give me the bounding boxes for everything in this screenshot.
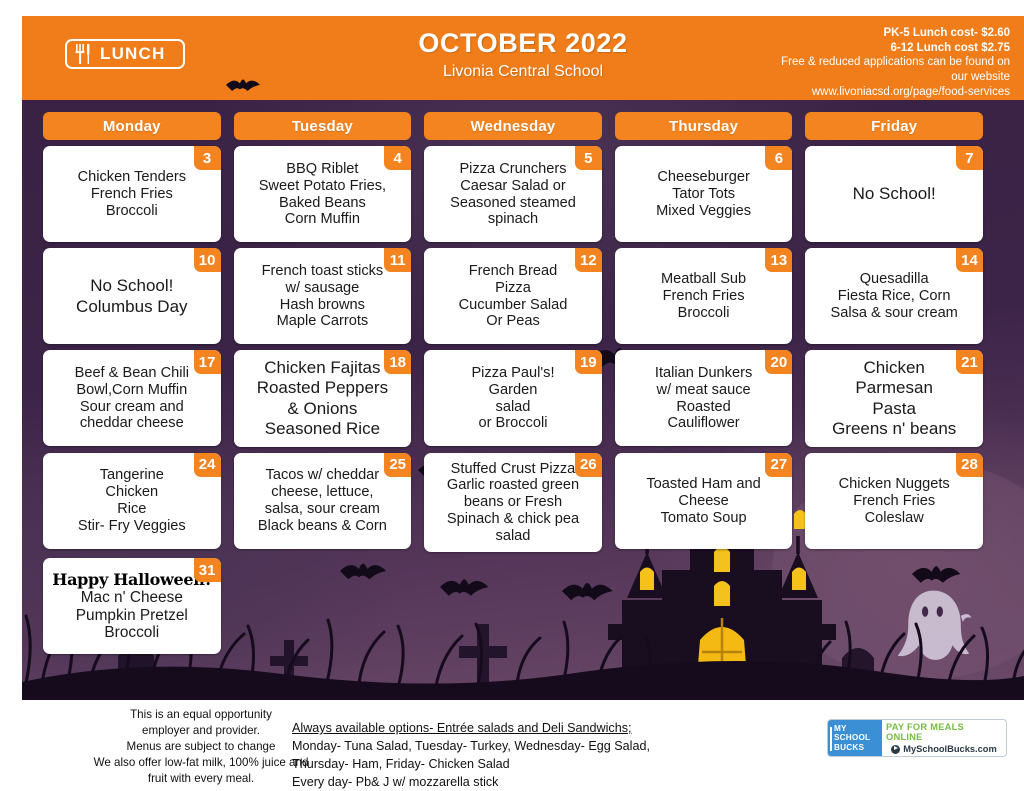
myschoolbucks-text: PAY FOR MEALS ONLINE MySchoolBucks.com (882, 720, 1006, 756)
price-6-12: 6-12 Lunch cost $2.75 (781, 41, 1010, 56)
calendar-day-cell[interactable]: Beef & Bean Chili Bowl,Corn Muffin Sour … (43, 350, 221, 446)
calendar-cell-empty (234, 558, 412, 573)
calendar-cell-wrapper: Stuffed Crust Pizza Garlic roasted green… (424, 453, 602, 553)
calendar-cell-empty (615, 558, 793, 573)
menu-text: No School! Columbus Day (49, 276, 215, 317)
calendar-cell-wrapper: French toast sticks w/ sausage Hash brow… (234, 248, 412, 344)
day-number-badge: 19 (575, 350, 602, 374)
calendar-day-cell[interactable]: Chicken Nuggets French Fries Coleslaw28 (805, 453, 983, 549)
day-header-friday: Friday (805, 112, 983, 140)
menu-text: Chicken Fajitas Roasted Peppers & Onions… (240, 358, 406, 440)
calendar-cell-wrapper: French Bread Pizza Cucumber Salad Or Pea… (424, 248, 602, 344)
calendar-day-cell[interactable]: Cheeseburger Tator Tots Mixed Veggies6 (615, 146, 793, 242)
calendar-day-cell[interactable]: No School! Columbus Day10 (43, 248, 221, 344)
menu-text: Quesadilla Fiesta Rice, Corn Salsa & sou… (811, 271, 977, 322)
menu-text: Chicken Tenders French Fries Broccoli (49, 169, 215, 220)
calendar-day-cell[interactable]: Happy Halloween!Mac n' Cheese Pumpkin Pr… (43, 558, 221, 654)
calendar-week-row: Tangerine Chicken Rice Stir- Fry Veggies… (43, 453, 983, 553)
pricing-info: PK-5 Lunch cost- $2.60 6-12 Lunch cost $… (781, 26, 1010, 100)
calendar-cell-wrapper (805, 558, 983, 654)
menu-text: Pizza Crunchers Caesar Salad or Seasoned… (430, 161, 596, 229)
calendar-week-row: Beef & Bean Chili Bowl,Corn Muffin Sour … (43, 350, 983, 447)
calendar-day-cell[interactable]: French toast sticks w/ sausage Hash brow… (234, 248, 412, 344)
play-icon (891, 745, 900, 754)
calendar-cell-wrapper (424, 558, 602, 654)
calendar-day-cell[interactable]: No School!7 (805, 146, 983, 242)
day-of-week-header-row: Monday Tuesday Wednesday Thursday Friday (43, 112, 983, 140)
calendar-weeks: Chicken Tenders French Fries Broccoli3BB… (43, 146, 983, 654)
msb-url-text: MySchoolBucks.com (903, 744, 997, 754)
calendar-cell-wrapper: Chicken Tenders French Fries Broccoli3 (43, 146, 221, 242)
calendar-cell-wrapper: Chicken Fajitas Roasted Peppers & Onions… (234, 350, 412, 447)
free-reduced-line-1: Free & reduced applications can be found… (781, 55, 1010, 70)
msb-url-label[interactable]: MySchoolBucks.com (891, 744, 997, 754)
day-number-badge: 28 (956, 453, 983, 477)
day-number-badge: 24 (194, 453, 221, 477)
always-available-line-1: Monday- Tuna Salad, Tuesday- Turkey, Wed… (292, 738, 762, 756)
website-link[interactable]: www.livoniacsd.org/page/food-services (781, 85, 1010, 100)
fork-icon (74, 43, 91, 65)
calendar-cell-wrapper: BBQ Riblet Sweet Potato Fries, Baked Bea… (234, 146, 412, 242)
calendar-cell-wrapper: Happy Halloween!Mac n' Cheese Pumpkin Pr… (43, 558, 221, 654)
calendar-day-cell[interactable]: Toasted Ham and Cheese Tomato Soup27 (615, 453, 793, 549)
always-available-line-2: Thursday- Ham, Friday- Chicken Salad (292, 756, 762, 774)
calendar-cell-wrapper: Cheeseburger Tator Tots Mixed Veggies6 (615, 146, 793, 242)
free-reduced-line-2: our website (781, 70, 1010, 85)
calendar-day-cell[interactable]: Chicken Fajitas Roasted Peppers & Onions… (234, 350, 412, 447)
day-number-badge: 27 (765, 453, 792, 477)
calendar-cell-wrapper: Tangerine Chicken Rice Stir- Fry Veggies… (43, 453, 221, 553)
menu-text: Cheeseburger Tator Tots Mixed Veggies (621, 169, 787, 220)
day-header-monday: Monday (43, 112, 221, 140)
calendar-day-cell[interactable]: BBQ Riblet Sweet Potato Fries, Baked Bea… (234, 146, 412, 242)
day-number-badge: 17 (194, 350, 221, 374)
menu-text: Italian Dunkers w/ meat sauce Roasted Ca… (621, 365, 787, 433)
day-number-badge: 26 (575, 453, 602, 477)
price-pk5: PK-5 Lunch cost- $2.60 (781, 26, 1010, 41)
calendar-cell-wrapper: Tacos w/ cheddar cheese, lettuce, salsa,… (234, 453, 412, 553)
menu-text: Chicken Nuggets French Fries Coleslaw (811, 476, 977, 527)
menu-text: Stuffed Crust Pizza Garlic roasted green… (430, 461, 596, 546)
calendar-cell-empty (424, 558, 602, 573)
day-number-badge: 7 (956, 146, 983, 170)
halloween-title: Happy Halloween! (49, 571, 215, 589)
always-available-block: Always available options- Entrée salads … (292, 720, 762, 791)
calendar-cell-empty (805, 558, 983, 573)
msb-brand-line-2: SCHOOL (834, 733, 882, 742)
day-header-thursday: Thursday (615, 112, 793, 140)
calendar-grid: Monday Tuesday Wednesday Thursday Friday… (43, 112, 983, 654)
calendar-cell-wrapper: No School!7 (805, 146, 983, 242)
calendar-day-cell[interactable]: Pizza Paul's! Garden salad or Broccoli19 (424, 350, 602, 446)
calendar-cell-wrapper: No School! Columbus Day10 (43, 248, 221, 344)
calendar-cell-wrapper: Toasted Ham and Cheese Tomato Soup27 (615, 453, 793, 553)
day-number-badge: 25 (384, 453, 411, 477)
always-available-title: Always available options- Entrée salads … (292, 720, 762, 738)
day-number-badge: 13 (765, 248, 792, 272)
lunch-logo: LUNCH (65, 39, 185, 69)
calendar-day-cell[interactable]: Pizza Crunchers Caesar Salad or Seasoned… (424, 146, 602, 242)
day-number-badge: 31 (194, 558, 221, 582)
calendar-cell-wrapper (615, 558, 793, 654)
menu-text: Toasted Ham and Cheese Tomato Soup (621, 476, 787, 527)
calendar-week-row: Chicken Tenders French Fries Broccoli3BB… (43, 146, 983, 242)
day-number-badge: 10 (194, 248, 221, 272)
always-available-line-3: Every day- Pb& J w/ mozzarella stick (292, 774, 762, 791)
myschoolbucks-badge[interactable]: MY SCHOOL BUCKS PAY FOR MEALS ONLINE MyS… (827, 719, 1007, 757)
day-number-badge: 18 (384, 350, 411, 374)
calendar-cell-wrapper: Pizza Paul's! Garden salad or Broccoli19 (424, 350, 602, 447)
calendar-day-cell[interactable]: Italian Dunkers w/ meat sauce Roasted Ca… (615, 350, 793, 446)
menu-text: Chicken Parmesan Pasta Greens n' beans (811, 358, 977, 440)
menu-text: French toast sticks w/ sausage Hash brow… (240, 263, 406, 331)
calendar-cell-wrapper: Quesadilla Fiesta Rice, Corn Salsa & sou… (805, 248, 983, 344)
calendar-cell-wrapper: Chicken Nuggets French Fries Coleslaw28 (805, 453, 983, 553)
menu-text: Tacos w/ cheddar cheese, lettuce, salsa,… (240, 467, 406, 535)
day-number-badge: 12 (575, 248, 602, 272)
calendar-cell-wrapper: Beef & Bean Chili Bowl,Corn Muffin Sour … (43, 350, 221, 447)
menu-text: Mac n' Cheese Pumpkin Pretzel Broccoli (49, 589, 215, 643)
calendar-day-cell[interactable]: Quesadilla Fiesta Rice, Corn Salsa & sou… (805, 248, 983, 344)
bat-icon-header (226, 68, 260, 94)
day-header-wednesday: Wednesday (424, 112, 602, 140)
menu-text: Tangerine Chicken Rice Stir- Fry Veggies (49, 467, 215, 535)
lunch-menu-page: LUNCH OCTOBER 2022 Livonia Central Schoo… (0, 0, 1024, 791)
calendar-day-cell[interactable]: Chicken Tenders French Fries Broccoli3 (43, 146, 221, 242)
calendar-week-row: No School! Columbus Day10French toast st… (43, 248, 983, 344)
page-header: LUNCH OCTOBER 2022 Livonia Central Schoo… (22, 16, 1024, 100)
calendar-cell-wrapper: Italian Dunkers w/ meat sauce Roasted Ca… (615, 350, 793, 447)
menu-text: Beef & Bean Chili Bowl,Corn Muffin Sour … (49, 365, 215, 433)
menu-text: Meatball Sub French Fries Broccoli (621, 271, 787, 322)
calendar-week-row: Happy Halloween!Mac n' Cheese Pumpkin Pr… (43, 558, 983, 654)
menu-text: No School! (811, 184, 977, 204)
day-number-badge: 4 (384, 146, 411, 170)
day-header-tuesday: Tuesday (234, 112, 412, 140)
calendar-day-cell[interactable]: Tangerine Chicken Rice Stir- Fry Veggies… (43, 453, 221, 549)
calendar-cell-wrapper: Chicken Parmesan Pasta Greens n' beans21 (805, 350, 983, 447)
calendar-cell-wrapper (234, 558, 412, 654)
msb-pay-label: PAY FOR MEALS ONLINE (886, 722, 1002, 742)
msb-brand-line-3: BUCKS (834, 743, 882, 752)
day-number-badge: 11 (384, 248, 411, 272)
calendar-day-cell[interactable]: Tacos w/ cheddar cheese, lettuce, salsa,… (234, 453, 412, 549)
calendar-cell-wrapper: Pizza Crunchers Caesar Salad or Seasoned… (424, 146, 602, 242)
day-number-badge: 3 (194, 146, 221, 170)
menu-text: Pizza Paul's! Garden salad or Broccoli (430, 365, 596, 433)
day-number-badge: 6 (765, 146, 792, 170)
calendar-day-cell[interactable]: French Bread Pizza Cucumber Salad Or Pea… (424, 248, 602, 344)
calendar-day-cell[interactable]: Chicken Parmesan Pasta Greens n' beans21 (805, 350, 983, 447)
day-number-badge: 20 (765, 350, 792, 374)
day-number-badge: 21 (956, 350, 983, 374)
calendar-cell-wrapper: Meatball Sub French Fries Broccoli13 (615, 248, 793, 344)
menu-text: French Bread Pizza Cucumber Salad Or Pea… (430, 263, 596, 331)
myschoolbucks-logo: MY SCHOOL BUCKS (828, 720, 882, 756)
day-number-badge: 14 (956, 248, 983, 272)
lunch-logo-label: LUNCH (100, 44, 166, 64)
msb-brand-line-1: MY (834, 724, 882, 733)
menu-text: BBQ Riblet Sweet Potato Fries, Baked Bea… (240, 161, 406, 229)
day-number-badge: 5 (575, 146, 602, 170)
calendar-day-cell[interactable]: Stuffed Crust Pizza Garlic roasted green… (424, 453, 602, 553)
calendar-day-cell[interactable]: Meatball Sub French Fries Broccoli13 (615, 248, 793, 344)
